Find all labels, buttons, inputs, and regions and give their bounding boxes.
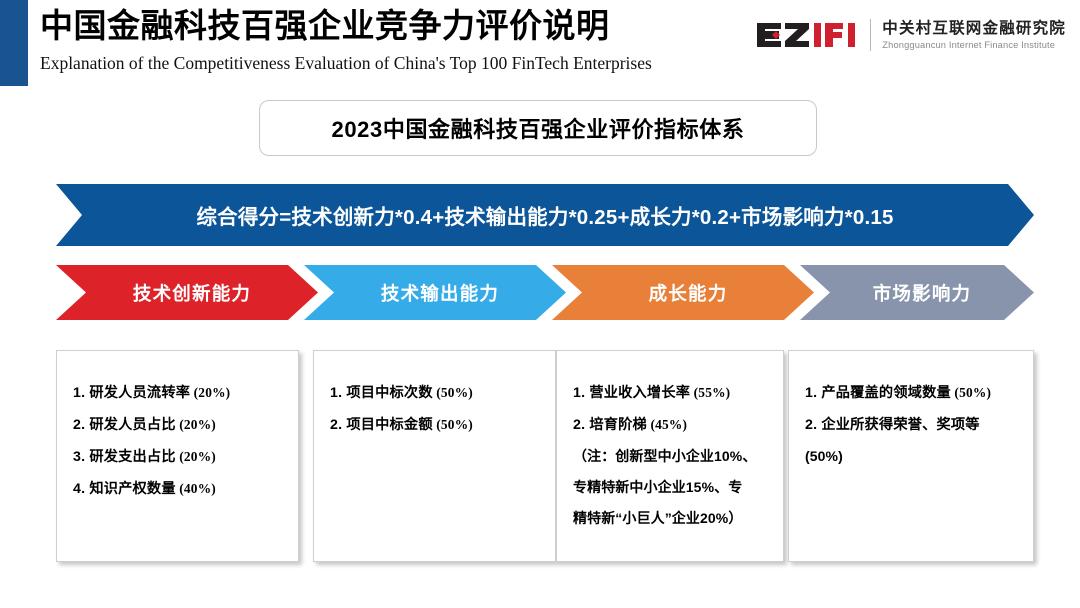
indicator-weight: (45%) xyxy=(647,417,687,432)
indicator-name: 企业所获得荣誉、奖项等 xyxy=(817,417,979,433)
indicator-item: 3. 研发支出占比 (20%) xyxy=(73,441,286,473)
indicator-item: 2. 培育阶梯 (45%) xyxy=(573,409,771,441)
header-accent-bar xyxy=(0,0,28,86)
indicator-card-4: 1. 产品覆盖的领域数量 (50%)2. 企业所获得荣誉、奖项等(50%) xyxy=(788,350,1034,562)
pillar-label: 成长能力 xyxy=(649,280,728,306)
indicator-item: 1. 项目中标次数 (50%) xyxy=(330,377,543,409)
indicator-note-line: （注：创新型中小企业10%、 xyxy=(573,441,771,472)
indicator-index: 4. xyxy=(73,481,85,497)
pillar-chevron-1[interactable]: 技术创新能力 xyxy=(56,265,318,320)
indicator-index: 2. xyxy=(73,417,85,433)
indicator-item: 2. 企业所获得荣誉、奖项等 xyxy=(805,409,1021,441)
indicator-name: 项目中标次数 xyxy=(342,385,432,401)
indicator-index: 2. xyxy=(330,417,342,433)
indicator-card-2: 1. 项目中标次数 (50%)2. 项目中标金额 (50%) xyxy=(313,350,556,562)
indicator-name: 营业收入增长率 xyxy=(585,385,690,401)
indicator-index: 1. xyxy=(805,385,817,401)
pillar-chevron-2[interactable]: 技术输出能力 xyxy=(304,265,566,320)
indicator-note-line: 专精特新中小企业15%、专 xyxy=(573,472,771,503)
indicator-weight: (50%) xyxy=(951,385,991,400)
header-title-block: 中国金融科技百强企业竞争力评价说明 Explanation of the Com… xyxy=(40,4,740,76)
score-formula-text: 综合得分=技术创新力*0.4+技术输出能力*0.25+成长力*0.2+市场影响力… xyxy=(196,200,893,230)
indicator-note-line: 精特新“小巨人”企业20%） xyxy=(573,503,771,534)
czifi-logo-icon xyxy=(755,20,859,50)
indicator-item: 2. 项目中标金额 (50%) xyxy=(330,409,543,441)
pillar-chevron-row: 技术创新能力技术输出能力成长能力市场影响力 xyxy=(56,265,1034,320)
pillar-label: 技术创新能力 xyxy=(133,280,251,306)
indicator-name: 产品覆盖的领域数量 xyxy=(817,385,951,401)
indicator-item: 1. 产品覆盖的领域数量 (50%) xyxy=(805,377,1021,409)
indicator-name: 研发人员流转率 xyxy=(85,385,190,401)
indicator-note-line: (50%) xyxy=(805,441,1021,472)
indicator-weight: (50%) xyxy=(433,385,473,400)
indicator-index: 2. xyxy=(573,417,585,433)
indicator-index: 1. xyxy=(573,385,585,401)
indicator-weight: (20%) xyxy=(190,385,230,400)
brand-logo: 中关村互联网金融研究院 Zhongguancun Internet Financ… xyxy=(755,12,1066,58)
score-formula-banner: 综合得分=技术创新力*0.4+技术输出能力*0.25+成长力*0.2+市场影响力… xyxy=(56,184,1034,246)
pillar-chevron-4[interactable]: 市场影响力 xyxy=(800,265,1034,320)
pillar-label: 技术输出能力 xyxy=(381,280,499,306)
indicator-index: 1. xyxy=(73,385,85,401)
indicator-index: 3. xyxy=(73,449,85,465)
indicator-weight: (40%) xyxy=(176,481,216,496)
indicator-name: 培育阶梯 xyxy=(585,417,647,433)
indicator-name: 研发人员占比 xyxy=(85,417,175,433)
slide-header: 中国金融科技百强企业竞争力评价说明 Explanation of the Com… xyxy=(0,0,1080,90)
logo-divider xyxy=(870,19,871,51)
index-system-title-box: 2023中国金融科技百强企业评价指标体系 xyxy=(259,100,817,156)
logo-name-en: Zhongguancun Internet Finance Institute xyxy=(882,39,1066,52)
indicator-weight: (55%) xyxy=(690,385,730,400)
indicator-item: 4. 知识产权数量 (40%) xyxy=(73,473,286,505)
indicator-weight: (50%) xyxy=(433,417,473,432)
indicator-index: 2. xyxy=(805,417,817,433)
pillar-label: 市场影响力 xyxy=(873,280,972,306)
indicator-index: 1. xyxy=(330,385,342,401)
indicator-card-3: 1. 营业收入增长率 (55%)2. 培育阶梯 (45%)（注：创新型中小企业1… xyxy=(556,350,784,562)
page-subtitle: Explanation of the Competitiveness Evalu… xyxy=(40,50,740,76)
indicator-name: 研发支出占比 xyxy=(85,449,175,465)
indicator-weight: (20%) xyxy=(176,417,216,432)
indicator-item: 2. 研发人员占比 (20%) xyxy=(73,409,286,441)
indicator-weight: (20%) xyxy=(176,449,216,464)
indicator-name: 项目中标金额 xyxy=(342,417,432,433)
page-title: 中国金融科技百强企业竞争力评价说明 xyxy=(40,4,740,48)
indicator-item: 1. 研发人员流转率 (20%) xyxy=(73,377,286,409)
index-system-title: 2023中国金融科技百强企业评价指标体系 xyxy=(332,112,745,144)
logo-text-block: 中关村互联网金融研究院 Zhongguancun Internet Financ… xyxy=(882,19,1066,52)
indicator-card-1: 1. 研发人员流转率 (20%)2. 研发人员占比 (20%)3. 研发支出占比… xyxy=(56,350,299,562)
logo-name-cn: 中关村互联网金融研究院 xyxy=(882,19,1066,38)
pillar-chevron-3[interactable]: 成长能力 xyxy=(552,265,814,320)
indicator-item: 1. 营业收入增长率 (55%) xyxy=(573,377,771,409)
indicator-name: 知识产权数量 xyxy=(85,481,175,497)
indicator-card-row: 1. 研发人员流转率 (20%)2. 研发人员占比 (20%)3. 研发支出占比… xyxy=(56,350,1034,562)
